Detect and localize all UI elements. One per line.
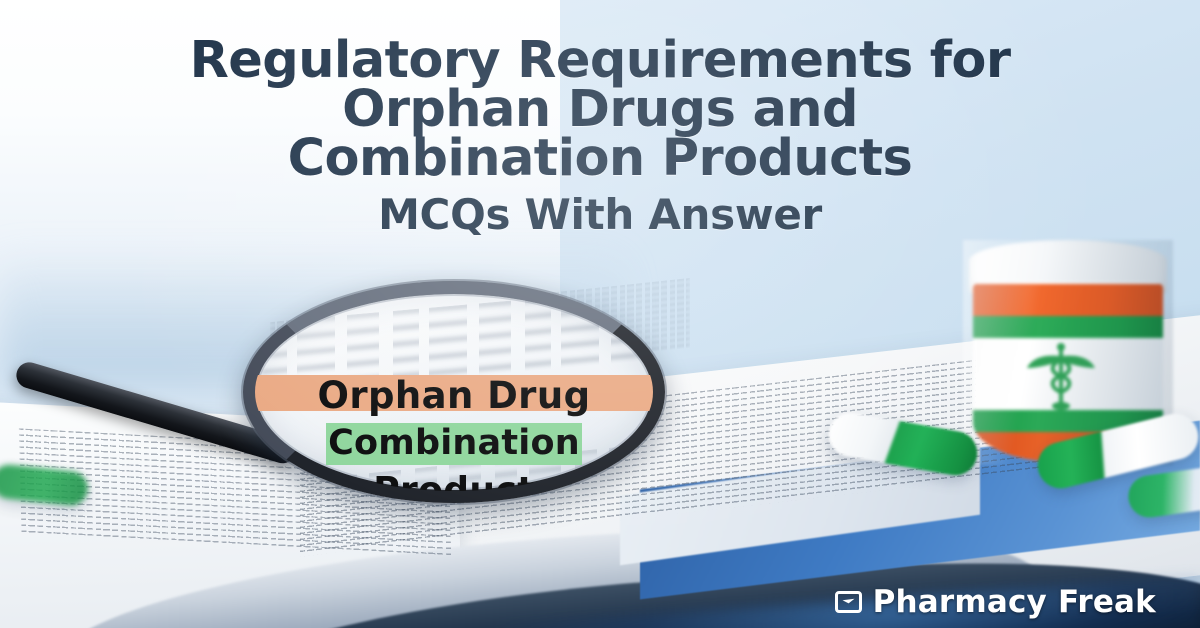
promo-banner: Orphan Drug Combination Product Regulato…: [0, 0, 1200, 628]
brand-mark-icon: [835, 591, 862, 613]
title-line-3: Combination Products: [0, 134, 1200, 183]
title-line-1: Regulatory Requirements for: [0, 36, 1200, 85]
brand-watermark: Pharmacy Freak: [835, 584, 1156, 620]
magnified-term-product: Product: [255, 473, 653, 491]
magnified-term-combination: Combination: [326, 423, 582, 465]
page-subtitle: MCQs With Answer: [0, 193, 1200, 237]
brand-name: Pharmacy Freak: [873, 584, 1156, 620]
magnified-terms: Orphan Drug Combination Product: [255, 377, 653, 491]
magnifying-glass: Orphan Drug Combination Product: [243, 281, 665, 503]
page-title: Regulatory Requirements for Orphan Drugs…: [0, 36, 1200, 237]
title-line-2: Orphan Drugs and: [0, 85, 1200, 134]
magnified-term-orphan-drug: Orphan Drug: [255, 377, 653, 414]
magnified-term-combination-wrap: Combination: [255, 423, 653, 465]
